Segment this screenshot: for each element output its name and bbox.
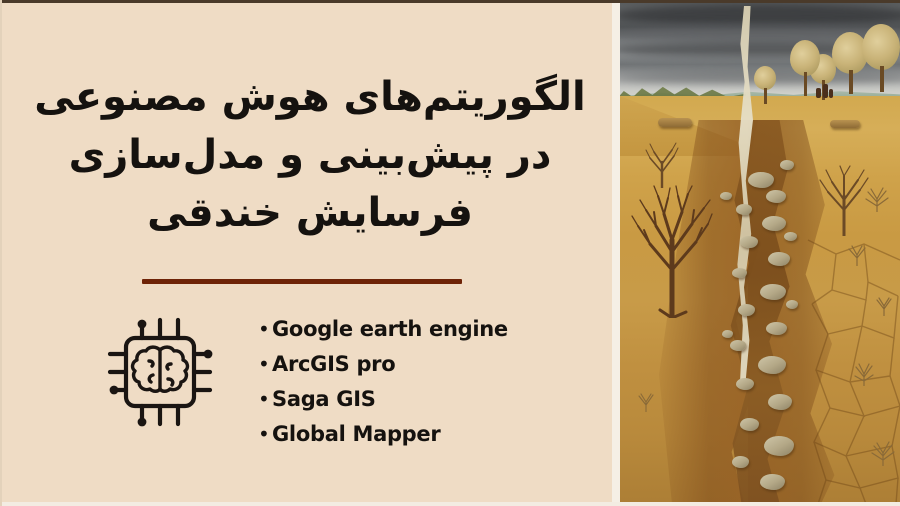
rock	[784, 232, 797, 241]
cloud-band	[620, 4, 900, 26]
rock	[740, 236, 758, 248]
rock	[722, 330, 733, 338]
list-item-label: ArcGIS pro	[272, 351, 395, 377]
rock	[764, 436, 794, 456]
title-divider	[142, 279, 462, 284]
bare-tree	[630, 178, 714, 318]
dry-shrub	[864, 186, 890, 212]
list-item: • ArcGIS pro	[258, 351, 588, 377]
list-item-label: Saga GIS	[272, 386, 376, 412]
figure	[823, 84, 828, 98]
rock	[766, 322, 787, 335]
fallen-log	[830, 120, 860, 128]
left-text-panel: الگوریتم‌های هوش مصنوعی در پیش‌بینی و مد…	[0, 0, 620, 506]
tree-trunk	[764, 88, 767, 104]
rock	[732, 268, 747, 278]
fallen-log	[658, 118, 692, 127]
photo-left-margin	[612, 0, 620, 506]
slide-left-border	[0, 0, 2, 506]
rock	[758, 356, 786, 374]
slide-bottom-border	[0, 502, 900, 506]
title-line-3: فرسایش خندقی	[20, 184, 600, 242]
rock	[740, 418, 759, 431]
rock	[732, 456, 749, 468]
tree-trunk	[849, 70, 853, 94]
page-title: الگوریتم‌های هوش مصنوعی در پیش‌بینی و مد…	[20, 68, 600, 242]
slide-top-border	[0, 0, 900, 3]
ridge-tree	[862, 24, 900, 92]
slide-canvas: الگوریتم‌های هوش مصنوعی در پیش‌بینی و مد…	[0, 0, 900, 506]
figure	[816, 88, 821, 98]
rock	[730, 340, 746, 351]
bullet-icon: •	[258, 421, 272, 447]
gully-erosion-illustration	[620, 0, 900, 506]
bare-tree	[644, 140, 680, 188]
rock	[780, 160, 794, 170]
rock	[768, 252, 790, 266]
rock	[736, 378, 754, 390]
list-item: • Google earth engine	[258, 316, 588, 342]
bullet-icon: •	[258, 316, 272, 342]
tree-trunk	[880, 66, 884, 92]
rock	[766, 190, 786, 203]
tree-canopy	[790, 40, 820, 76]
rock	[738, 304, 755, 316]
title-line-1: الگوریتم‌های هوش مصنوعی	[20, 68, 600, 126]
list-item: • Global Mapper	[258, 421, 588, 447]
list-item-label: Google earth engine	[272, 316, 508, 342]
rock	[760, 284, 786, 300]
tree-trunk	[804, 72, 807, 96]
people-figures	[816, 84, 834, 98]
ridge-tree	[754, 66, 776, 104]
rock	[762, 216, 786, 231]
figure	[829, 89, 833, 98]
rock	[736, 204, 752, 215]
bullet-icon: •	[258, 386, 272, 412]
rock	[768, 394, 792, 410]
bullet-icon: •	[258, 351, 272, 377]
dry-shrub	[870, 440, 896, 466]
ai-chip-brain-icon	[104, 312, 216, 430]
dry-shrub	[852, 362, 876, 386]
rock	[760, 474, 785, 490]
rock	[720, 192, 732, 200]
title-line-2: در پیش‌بینی و مدل‌سازی	[20, 126, 600, 184]
tree-canopy	[862, 24, 900, 70]
dry-shrub	[846, 244, 868, 266]
rock	[748, 172, 774, 188]
rock	[786, 300, 798, 309]
tree-canopy	[754, 66, 776, 90]
list-item: • Saga GIS	[258, 386, 588, 412]
dry-shrub	[874, 296, 894, 316]
software-list: • Google earth engine • ArcGIS pro • Sag…	[258, 316, 588, 456]
list-item-label: Global Mapper	[272, 421, 440, 447]
dry-shrub	[636, 392, 656, 412]
